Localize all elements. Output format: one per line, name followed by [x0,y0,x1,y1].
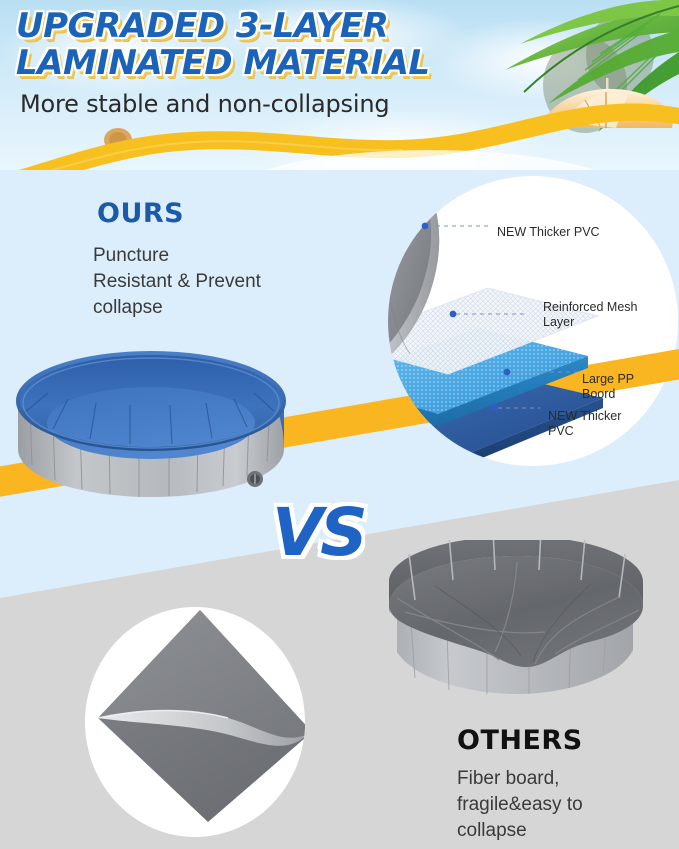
layer-label-pp-board: Large PP Boord [582,372,634,402]
ours-pool-image [8,325,294,510]
others-description: Fiber board, fragile&easy to collapse [457,766,667,844]
page-title: UPGRADED 3-LAYER LAMINATED MATERIAL [16,8,486,82]
drain-valve-icon [247,471,263,487]
ours-title: OURS [97,198,184,229]
others-pool-image [375,540,655,720]
others-title: OTHERS [457,725,583,756]
vs-badge: VS [272,500,365,566]
layer-label-mesh: Reinforced Mesh Layer [543,300,638,330]
header-banner: UPGRADED 3-LAYER LAMINATED MATERIAL More… [0,0,679,172]
layer-label-top-pvc: NEW Thicker PVC [497,225,600,240]
delaminating-sheet-image [80,600,310,840]
layer-label-bottom-pvc: NEW Thicker PVC [548,409,621,439]
product-infographic: UPGRADED 3-LAYER LAMINATED MATERIAL More… [0,0,679,849]
ours-description: Puncture Resistant & Prevent collapse [93,243,293,321]
page-subtitle: More stable and non-collapsing [20,90,389,118]
